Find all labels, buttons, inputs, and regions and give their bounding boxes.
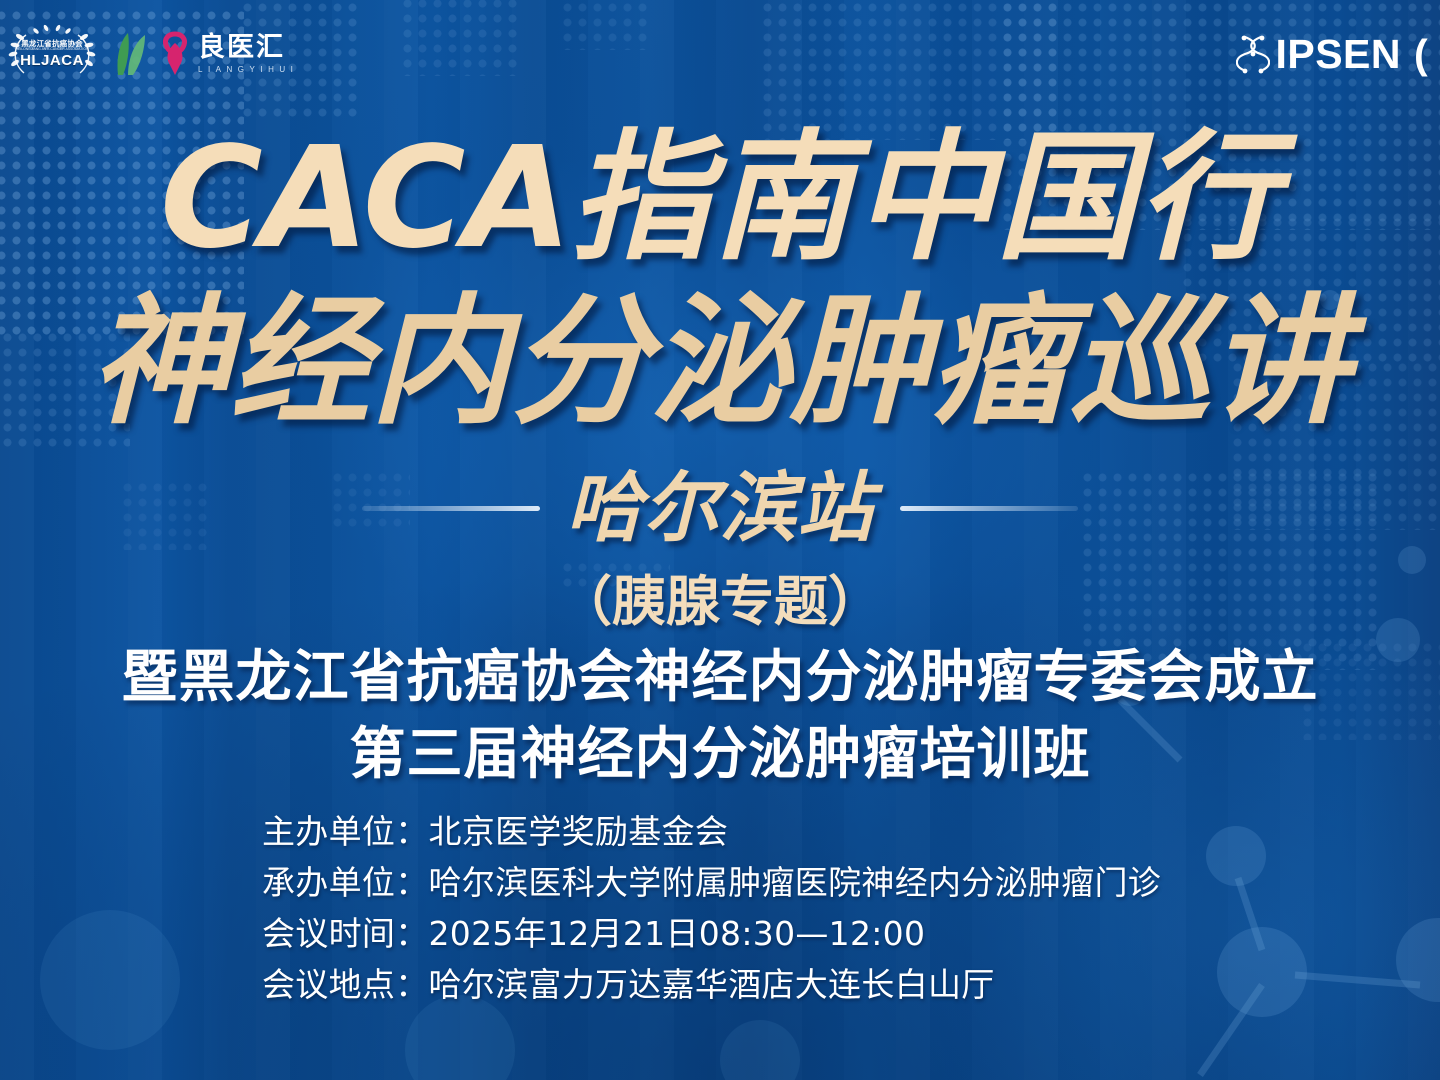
leaf-icon <box>114 31 152 77</box>
ipsen-wordmark: IPSEN <box>1275 31 1401 78</box>
poster-content: CACA指南中国行 神经内分泌肿瘤巡讲 哈尔滨站 （胰腺专题） 暨黑龙江省抗癌协… <box>0 0 1440 1080</box>
title-line-1: CACA指南中国行 <box>0 128 1440 269</box>
title-line-2: 神经内分泌肿瘤巡讲 <box>0 292 1440 432</box>
station-name: 哈尔滨站 <box>566 470 874 546</box>
liangyihui-en-name: LIANGYIHUI <box>198 65 298 74</box>
hljaca-cn-name: 黑龙江省抗癌协会 <box>16 40 89 48</box>
header-logo-bar: 黑龙江省抗癌协会 HEILONGJIANG ANTI-CANCER ASSOCI… <box>0 0 1440 108</box>
station-rule-left <box>362 506 540 511</box>
hljaca-en-subtitle: HEILONGJIANG ANTI-CANCER ASSOCIATION <box>16 48 89 51</box>
info-venue: 会议地点：哈尔滨富力万达嘉华酒店大连长白山厅 <box>262 965 1161 1006</box>
info-co-organizer: 承办单位：哈尔滨医科大学附属肿瘤医院神经内分泌肿瘤门诊 <box>262 863 1161 904</box>
awareness-ribbon-icon <box>159 31 191 77</box>
poster-canvas: 黑龙江省抗癌协会 HEILONGJIANG ANTI-CANCER ASSOCI… <box>0 0 1440 1080</box>
subtitle-line-1: 暨黑龙江省抗癌协会神经内分泌肿瘤专委会成立 <box>0 645 1440 711</box>
header-left-logos: 黑龙江省抗癌协会 HEILONGJIANG ANTI-CANCER ASSOCI… <box>0 23 298 85</box>
header-right-logos: IPSEN ( <box>1236 31 1440 78</box>
subtitle-line-2: 第三届神经内分泌肿瘤培训班 <box>0 722 1440 788</box>
logo-hljaca: 黑龙江省抗癌协会 HEILONGJIANG ANTI-CANCER ASSOCI… <box>6 23 98 85</box>
liangyihui-cn-name: 良医汇 <box>198 34 298 61</box>
ipsen-cropped-glyph: ( <box>1414 31 1440 78</box>
logo-liangyihui: 良医汇 LIANGYIHUI <box>114 31 298 77</box>
topic-label: （胰腺专题） <box>0 572 1440 631</box>
station-rule-right <box>900 506 1078 511</box>
info-datetime: 会议时间：2025年12月21日08:30—12:00 <box>262 914 1161 955</box>
event-info-block: 主办单位：北京医学奖励基金会 承办单位：哈尔滨医科大学附属肿瘤医院神经内分泌肿瘤… <box>262 812 1161 1006</box>
hljaca-acronym: HLJACA <box>16 53 89 68</box>
ipsen-helix-icon <box>1236 32 1270 76</box>
title-caca-latin: CACA <box>160 117 570 280</box>
logo-ipsen: IPSEN ( <box>1236 31 1440 78</box>
info-organizer: 主办单位：北京医学奖励基金会 <box>262 812 1161 853</box>
title-line-1-cn: 指南中国行 <box>570 116 1280 280</box>
station-row: 哈尔滨站 <box>0 470 1440 546</box>
